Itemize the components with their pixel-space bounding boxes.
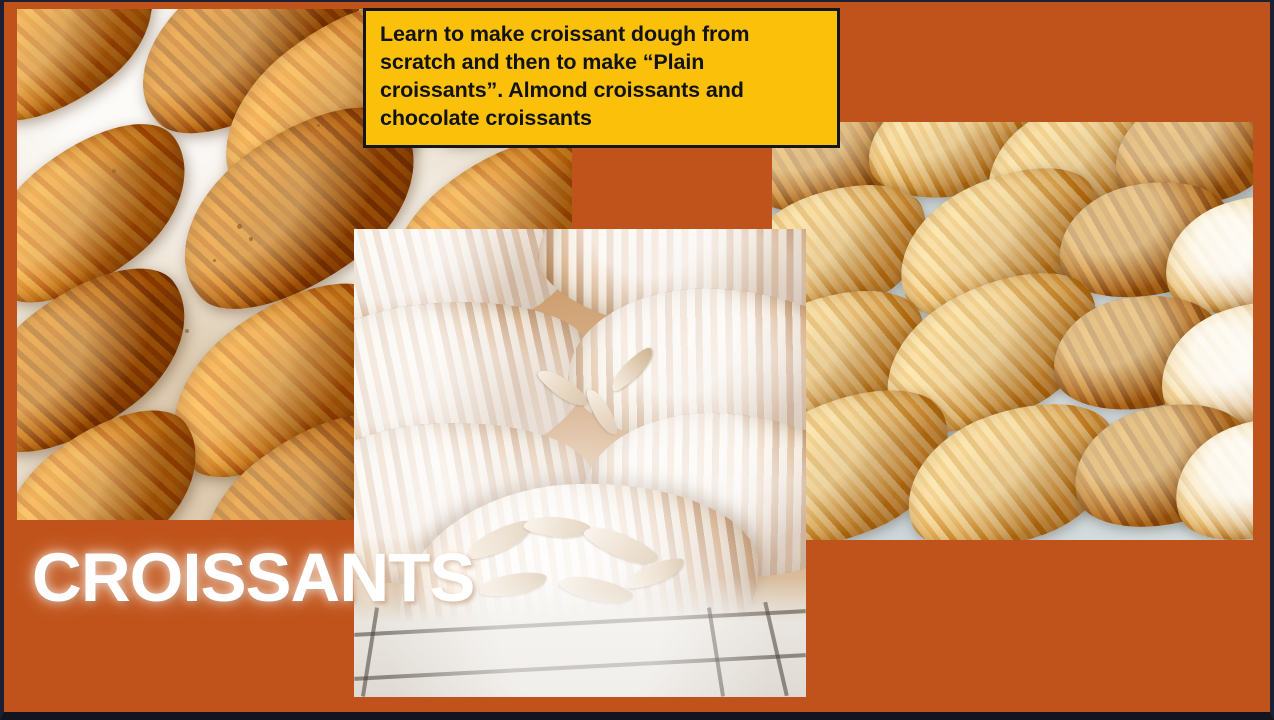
caption-text: Learn to make croissant dough from scrat… — [380, 21, 823, 133]
presentation-slide: Learn to make croissant dough from scrat… — [0, 0, 1274, 720]
image-croissants-and-pain-au-chocolat-tray[interactable] — [772, 122, 1253, 540]
image-almond-croissants-powdered-sugar[interactable] — [354, 229, 806, 697]
slide-title: CROISSANTS — [32, 543, 474, 612]
caption-textbox[interactable]: Learn to make croissant dough from scrat… — [363, 8, 840, 148]
